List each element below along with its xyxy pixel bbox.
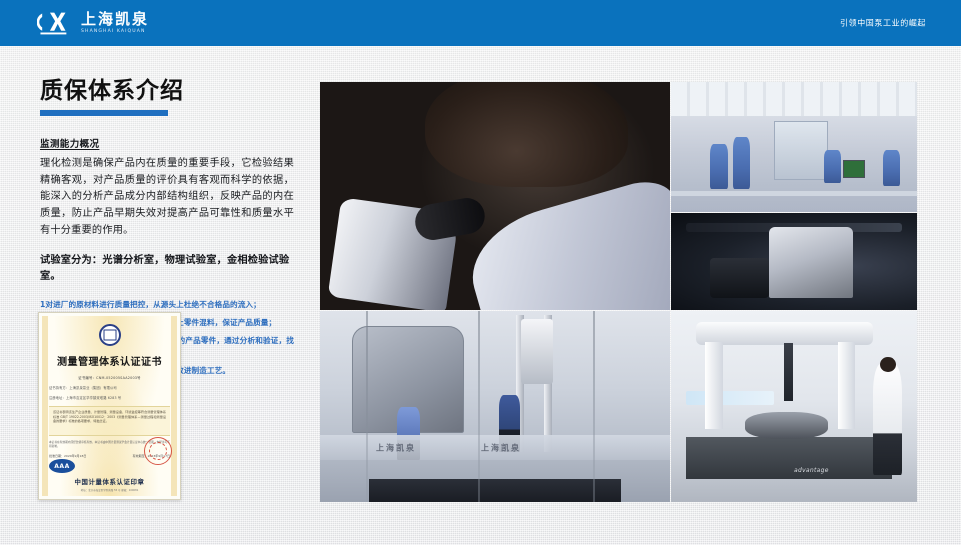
photo-detail (412, 195, 487, 243)
photo-watermark-label: 上海凯泉 (376, 442, 416, 453)
certificate-footer-title: 中国计量体系认证印章 (75, 478, 145, 486)
photo-detail (843, 160, 865, 178)
certificate-footer: 中国计量体系认证印章 地址：北京市海淀区学院南路 55 号 邮编：100081 (39, 477, 180, 492)
certificate-approval-date: 批准日期：2020年9月18日 (49, 454, 86, 458)
ph-microscope-equipment (671, 213, 917, 310)
photo-detail (478, 311, 480, 502)
aaa-rating-badge: AAA (49, 459, 75, 473)
ph-testing-lab: 上海凯泉 上海凯泉 (320, 311, 670, 502)
section-paragraph: 理化检测是确保产品内在质量的重要手段，它检验结果精确客观，对产品质量的评价具有客… (40, 156, 294, 239)
photo-detail (769, 227, 853, 299)
certificate-number: 证书编号：CNM-052005SAA2003号 (78, 375, 141, 380)
certificate-footer-sub: 地址：北京市海淀区学院南路 55 号 邮编：100081 (39, 488, 180, 492)
labs-list-line: 试验室分为：光谱分析室，物理试验室，金相检验试验室。 (40, 253, 294, 286)
certificate-title: 测量管理体系认证证书 (57, 353, 162, 368)
photo-detail (686, 437, 893, 479)
brand-logo[interactable]: 上海凯泉 SHANGHAI KAIQUAN (37, 8, 149, 38)
photo-detail (710, 258, 769, 299)
certificate-company-row: 证书持有方：上海凯泉泵业（集团）有限公司 (49, 385, 117, 390)
photo-detail (784, 343, 793, 400)
ph-cmm-inspection: advantage (671, 311, 917, 502)
photo-detail (774, 121, 828, 180)
photo-detail (671, 82, 917, 116)
top-header-bar: 上海凯泉 SHANGHAI KAIQUAN 引领中国泵工业的崛起 (0, 0, 961, 46)
section-heading: 监测能力概况 (40, 136, 294, 150)
brand-name-cn: 上海凯泉 (81, 12, 149, 28)
photo-detail (733, 137, 750, 189)
kaiquan-logo-icon (37, 8, 75, 38)
photo-detail (521, 319, 553, 384)
photo-detail (705, 342, 722, 430)
photo-collage: 上海凯泉 上海凯泉 advantage (320, 82, 917, 502)
photo-detail (873, 364, 903, 475)
page-title: 质保体系介绍 (40, 78, 294, 104)
certification-seal-icon (144, 437, 172, 465)
photo-detail (593, 311, 595, 502)
photo-detail (369, 479, 621, 502)
photo-detail (838, 342, 855, 430)
photo-detail (671, 191, 917, 196)
ph-lab-overview (671, 82, 917, 212)
slide-page: 上海凯泉 SHANGHAI KAIQUAN 引领中国泵工业的崛起 质保体系介绍 … (0, 0, 961, 545)
photo-detail (880, 357, 896, 372)
certificate-emblem-icon (99, 324, 121, 346)
photo-detail (883, 150, 900, 186)
ph-microscope-operator (320, 82, 670, 310)
title-underline-rule (40, 110, 168, 116)
photo-detail: 上海凯泉 上海凯泉 (320, 435, 670, 460)
photo-detail (459, 173, 670, 310)
photo-brand-label: advantage (794, 467, 829, 474)
certificate-address-row: 注册地址：上海市嘉定区华亭镇双塔路 6283 号 (49, 395, 121, 400)
photo-detail (745, 412, 829, 439)
list-item: 1对进厂的原材料进行质量把控，从源头上杜绝不合格品的流入； (40, 299, 294, 310)
header-slogan: 引领中国泵工业的崛起 (840, 18, 926, 29)
photo-detail (425, 82, 628, 187)
certificate-body-text: 该证书表明该生产企业质量、计量管理、测量设备、环境监控等符合测量管理体系标准 G… (49, 406, 170, 436)
photo-detail (366, 311, 368, 502)
photo-watermark-label: 上海凯泉 (481, 442, 521, 453)
photo-detail (710, 144, 727, 188)
photo-detail (686, 391, 775, 404)
measurement-management-certificate: 测量管理体系认证证书 证书编号：CNM-052005SAA2003号 证书持有方… (38, 312, 181, 500)
photo-detail (824, 150, 841, 184)
brand-name-en: SHANGHAI KAIQUAN (81, 29, 149, 34)
